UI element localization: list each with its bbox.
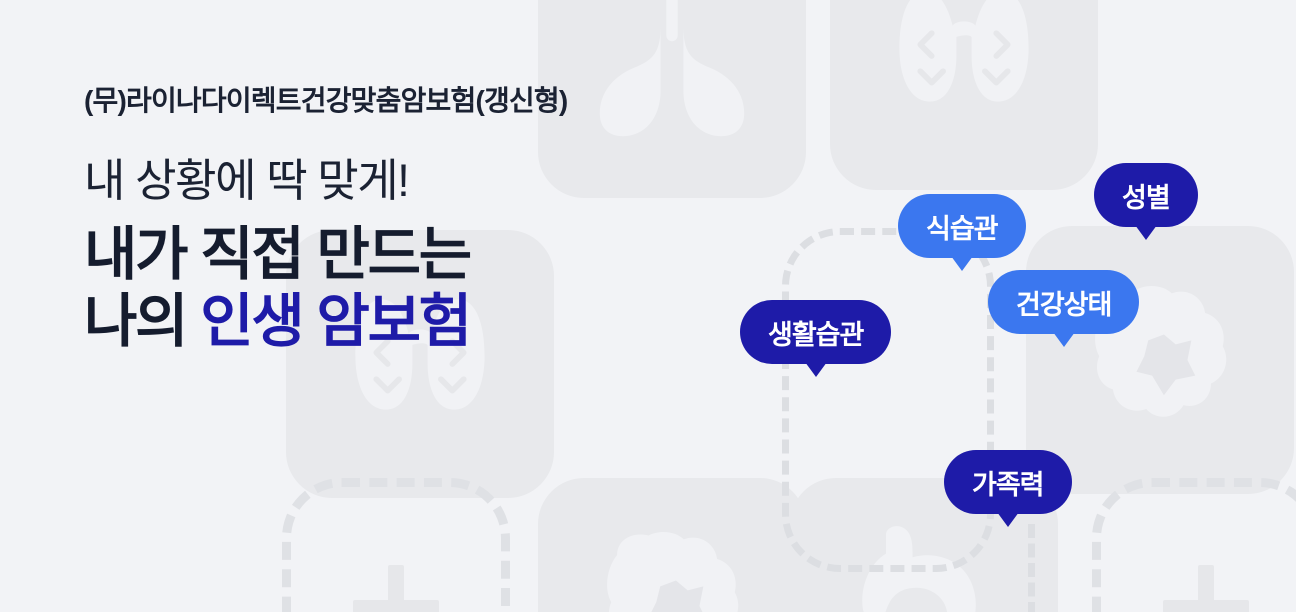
badge-lifestyle[interactable]: 생활습관 [740, 300, 891, 364]
plus-icon [1163, 565, 1249, 612]
badge-family-history[interactable]: 가족력 [944, 450, 1072, 514]
headline-block: (무)라이나다이렉트건강맞춤암보험(갱신형) 내 상황에 딱 맞게! 내가 직접… [84, 84, 567, 356]
dashed-placeholder-left [282, 478, 510, 612]
headline: 내가 직접 만드는 나의 인생 암보험 [84, 221, 567, 356]
dotted-connector-line [1028, 524, 1035, 612]
product-name: (무)라이나다이렉트건강맞춤암보험(갱신형) [84, 84, 567, 118]
headline-line-2: 나의 인생 암보험 [84, 288, 567, 355]
badge-label: 생활습관 [768, 313, 863, 352]
badge-health-status[interactable]: 건강상태 [988, 270, 1139, 334]
badge-label: 식습관 [926, 207, 998, 246]
lead-line: 내 상황에 딱 맞게! [84, 156, 567, 206]
tile-thyroid-top [830, 0, 1098, 190]
intestine-icon [1026, 226, 1294, 494]
badge-label: 건강상태 [1016, 283, 1111, 322]
promo-banner: (무)라이나다이렉트건강맞춤암보험(갱신형) 내 상황에 딱 맞게! 내가 직접… [0, 0, 1296, 612]
headline-line-2-accent: 인생 암보험 [200, 289, 470, 354]
headline-line-2-prefix: 나의 [84, 289, 200, 354]
tile-lungs [538, 0, 806, 198]
dashed-placeholder-right [1092, 478, 1296, 612]
badge-label: 성별 [1122, 176, 1170, 215]
headline-line-1: 내가 직접 만드는 [84, 221, 567, 288]
tile-intestine-bottom [538, 478, 806, 612]
tile-intestine-right [1026, 226, 1294, 494]
thyroid-icon [830, 0, 1098, 190]
intestine-icon [538, 478, 806, 612]
dotted-connector-box [782, 228, 994, 572]
badge-label: 가족력 [972, 463, 1044, 502]
badge-gender[interactable]: 성별 [1094, 163, 1198, 227]
plus-icon [353, 565, 439, 612]
lungs-icon [538, 0, 806, 198]
badge-diet-habit[interactable]: 식습관 [898, 194, 1026, 258]
